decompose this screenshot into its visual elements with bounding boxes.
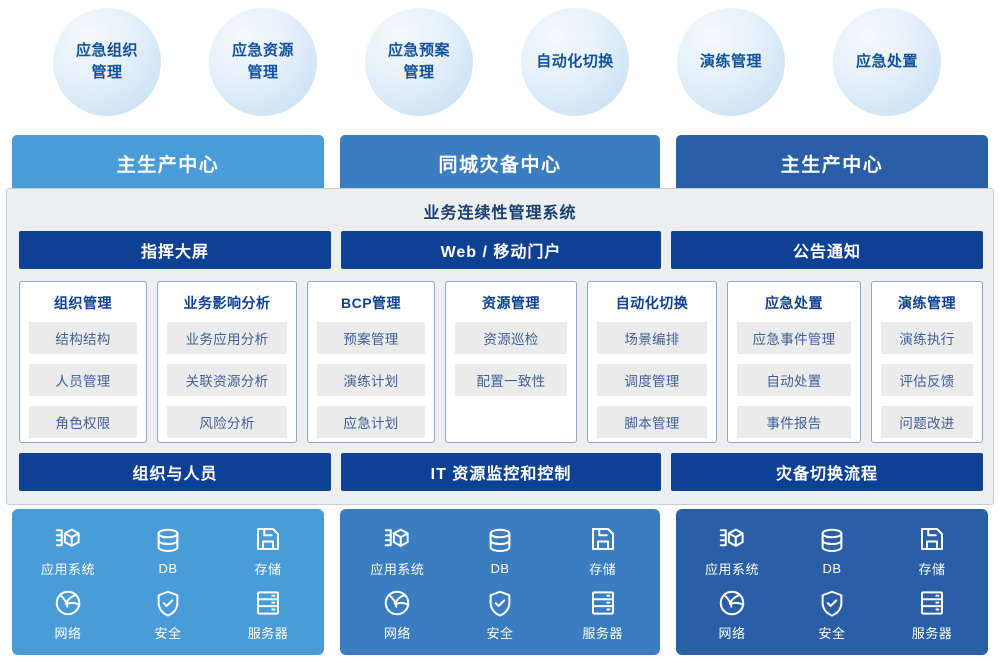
network-globe-icon	[717, 588, 747, 618]
module-title: 应急处置	[737, 293, 851, 313]
server-rack-icon	[588, 588, 618, 618]
infra-item-application-system[interactable]: 应用系统	[705, 524, 759, 578]
infra-item-database[interactable]: DB	[153, 526, 183, 576]
infra-item-application-system[interactable]: 应用系统	[41, 524, 95, 578]
module-card-row: 组织管理 结构结构 人员管理 角色权限 业务影响分析 业务应用分析 关联资源分析…	[19, 281, 983, 443]
application-system-icon	[717, 524, 747, 554]
module-title: 组织管理	[29, 293, 137, 313]
module-title: BCP管理	[317, 293, 425, 313]
infra-label: 网络	[384, 623, 411, 642]
capability-circle-2[interactable]: 应急预案 管理	[365, 8, 473, 116]
shield-check-icon	[153, 588, 183, 618]
band-command-screen[interactable]: 指挥大屏	[19, 231, 331, 269]
diagram-root: 应急组织 管理 应急资源 管理 应急预案 管理 自动化切换 演练管理	[0, 0, 1000, 663]
module-item[interactable]: 结构结构	[29, 322, 137, 354]
infra-item-storage[interactable]: 存储	[253, 524, 283, 578]
server-rack-icon	[917, 588, 947, 618]
bcm-system-panel: 业务连续性管理系统 指挥大屏 Web / 移动门户 公告通知 组织管理 结构结构…	[6, 188, 994, 505]
capability-circle-3[interactable]: 自动化切换	[521, 8, 629, 116]
storage-icon	[588, 524, 618, 554]
module-title: 资源管理	[455, 293, 567, 313]
band-web-mobile-portal[interactable]: Web / 移动门户	[341, 231, 661, 269]
infra-item-database[interactable]: DB	[485, 526, 515, 576]
infra-label: 服务器	[912, 623, 953, 642]
module-item[interactable]: 应急计划	[317, 406, 425, 438]
storage-icon	[253, 524, 283, 554]
band-dr-switchover-process[interactable]: 灾备切换流程	[671, 453, 983, 491]
capability-circle-5[interactable]: 应急处置	[833, 8, 941, 116]
infra-item-network[interactable]: 网络	[717, 588, 747, 642]
infrastructure-panel-middle: 应用系统 DB 存储 网络 安全 服务器	[340, 509, 660, 655]
module-item[interactable]: 演练执行	[881, 322, 973, 354]
infra-label: 服务器	[248, 623, 289, 642]
infra-label: 安全	[154, 623, 181, 642]
module-item[interactable]: 人员管理	[29, 364, 137, 396]
infra-item-network[interactable]: 网络	[382, 588, 412, 642]
capability-circle-2-line-0: 应急预案	[382, 40, 456, 62]
center-header-primary-production-left[interactable]: 主生产中心	[12, 135, 324, 191]
network-globe-icon	[53, 588, 83, 618]
module-card-automated-switchover[interactable]: 自动化切换 场景编排 调度管理 脚本管理	[587, 281, 717, 443]
capability-circle-0-line-1: 管理	[70, 62, 144, 84]
infra-item-server[interactable]: 服务器	[248, 588, 289, 642]
capability-circle-1-line-1: 管理	[226, 62, 300, 84]
infrastructure-panel-left: 应用系统 DB 存储 网络 安全 服务器	[12, 509, 324, 655]
application-system-icon	[382, 524, 412, 554]
module-item[interactable]: 场景编排	[597, 322, 707, 354]
infra-item-storage[interactable]: 存储	[917, 524, 947, 578]
module-item[interactable]: 应急事件管理	[737, 322, 851, 354]
capability-circle-3-line-0: 自动化切换	[530, 51, 620, 73]
network-globe-icon	[382, 588, 412, 618]
infra-label: 存储	[254, 559, 281, 578]
module-card-resource-management[interactable]: 资源管理 资源巡检 配置一致性	[445, 281, 577, 443]
module-item[interactable]: 问题改进	[881, 406, 973, 438]
band-announcement-notice[interactable]: 公告通知	[671, 231, 983, 269]
module-title: 演练管理	[881, 293, 973, 313]
infra-label: 服务器	[582, 623, 623, 642]
center-header-primary-production-right[interactable]: 主生产中心	[676, 135, 988, 191]
band-organization-and-personnel[interactable]: 组织与人员	[19, 453, 331, 491]
module-item[interactable]: 调度管理	[597, 364, 707, 396]
server-rack-icon	[253, 588, 283, 618]
storage-icon	[917, 524, 947, 554]
module-card-emergency-response[interactable]: 应急处置 应急事件管理 自动处置 事件报告	[727, 281, 861, 443]
capability-circle-4[interactable]: 演练管理	[677, 8, 785, 116]
module-item[interactable]: 资源巡检	[455, 322, 567, 354]
capability-circle-0-line-0: 应急组织	[70, 40, 144, 62]
module-item[interactable]: 业务应用分析	[167, 322, 287, 354]
infra-label: DB	[158, 561, 177, 576]
shield-check-icon	[817, 588, 847, 618]
band-it-resource-monitoring-control[interactable]: IT 资源监控和控制	[341, 453, 661, 491]
infra-item-security[interactable]: 安全	[485, 588, 515, 642]
infra-item-network[interactable]: 网络	[53, 588, 83, 642]
module-item[interactable]: 角色权限	[29, 406, 137, 438]
module-title: 自动化切换	[597, 293, 707, 313]
infra-item-database[interactable]: DB	[817, 526, 847, 576]
infra-label: 应用系统	[705, 559, 759, 578]
infra-item-security[interactable]: 安全	[153, 588, 183, 642]
infra-item-server[interactable]: 服务器	[912, 588, 953, 642]
infra-label: 存储	[589, 559, 616, 578]
module-item[interactable]: 自动处置	[737, 364, 851, 396]
module-item[interactable]: 预案管理	[317, 322, 425, 354]
application-system-icon	[53, 524, 83, 554]
panel-title: 业务连续性管理系统	[7, 199, 993, 223]
capability-circle-4-line-0: 演练管理	[694, 51, 768, 73]
module-item[interactable]: 脚本管理	[597, 406, 707, 438]
module-card-business-impact-analysis[interactable]: 业务影响分析 业务应用分析 关联资源分析 风险分析	[157, 281, 297, 443]
infra-label: DB	[822, 561, 841, 576]
module-title: 业务影响分析	[167, 293, 287, 313]
infra-label: DB	[490, 561, 509, 576]
infra-label: 网络	[54, 623, 81, 642]
capability-circle-0[interactable]: 应急组织 管理	[53, 8, 161, 116]
module-card-drill-management[interactable]: 演练管理 演练执行 评估反馈 问题改进	[871, 281, 983, 443]
infra-label: 安全	[818, 623, 845, 642]
infra-label: 存储	[918, 559, 945, 578]
infra-label: 应用系统	[370, 559, 424, 578]
module-card-org-management[interactable]: 组织管理 结构结构 人员管理 角色权限	[19, 281, 147, 443]
infra-item-application-system[interactable]: 应用系统	[370, 524, 424, 578]
infra-label: 应用系统	[41, 559, 95, 578]
module-card-bcp-management[interactable]: BCP管理 预案管理 演练计划 应急计划	[307, 281, 435, 443]
capability-circle-5-line-0: 应急处置	[850, 51, 924, 73]
capability-circle-1[interactable]: 应急资源 管理	[209, 8, 317, 116]
module-item[interactable]: 关联资源分析	[167, 364, 287, 396]
database-icon	[485, 526, 515, 556]
module-item[interactable]: 风险分析	[167, 406, 287, 438]
infra-item-server[interactable]: 服务器	[582, 588, 623, 642]
infra-item-storage[interactable]: 存储	[588, 524, 618, 578]
module-item[interactable]: 配置一致性	[455, 364, 567, 396]
database-icon	[817, 526, 847, 556]
infra-label: 网络	[718, 623, 745, 642]
capability-circle-2-line-1: 管理	[382, 62, 456, 84]
module-item[interactable]: 事件报告	[737, 406, 851, 438]
infra-label: 安全	[486, 623, 513, 642]
database-icon	[153, 526, 183, 556]
capability-circle-row: 应急组织 管理 应急资源 管理 应急预案 管理 自动化切换 演练管理	[0, 0, 1000, 126]
module-item[interactable]: 演练计划	[317, 364, 425, 396]
shield-check-icon	[485, 588, 515, 618]
center-header-metro-dr[interactable]: 同城灾备中心	[340, 135, 660, 191]
infrastructure-panel-right: 应用系统 DB 存储 网络 安全 服务器	[676, 509, 988, 655]
infra-item-security[interactable]: 安全	[817, 588, 847, 642]
module-item[interactable]: 评估反馈	[881, 364, 973, 396]
capability-circle-1-line-0: 应急资源	[226, 40, 300, 62]
